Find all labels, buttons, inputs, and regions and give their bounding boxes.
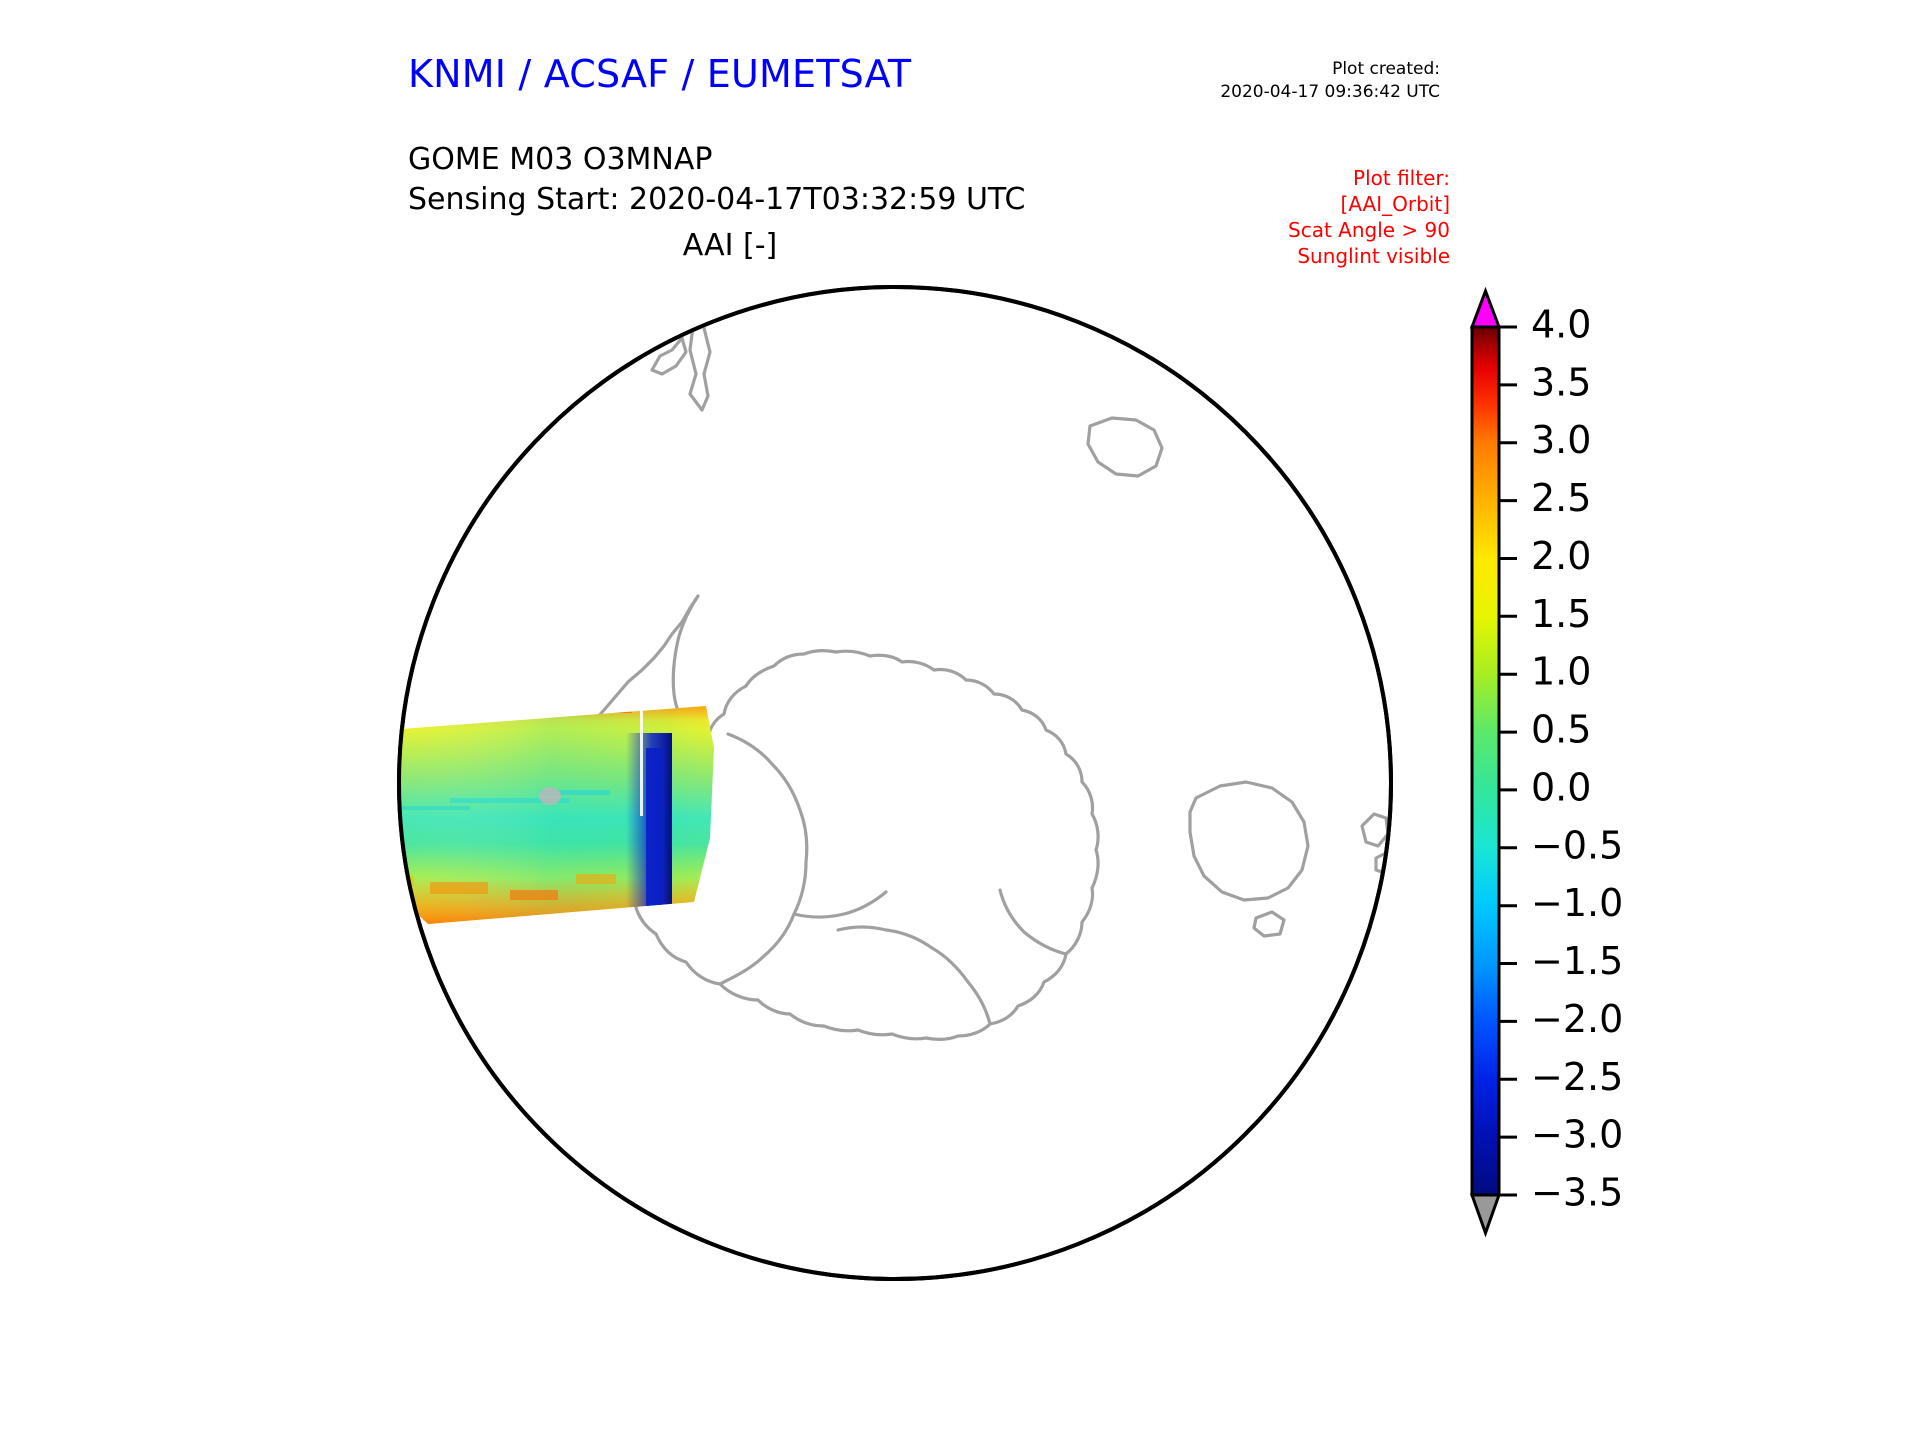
plot-filter-block: Plot filter: [AAI_Orbit] Scat Angle > 90… bbox=[1140, 165, 1450, 269]
organisation-title: KNMI / ACSAF / EUMETSAT bbox=[408, 52, 911, 96]
tick-label: 3.0 bbox=[1531, 418, 1591, 462]
tick-label: 3.5 bbox=[1531, 360, 1591, 404]
colorbar-gradient bbox=[1472, 327, 1499, 1195]
colorbar-tick-labels: 4.0 3.5 3.0 2.5 2.0 1.5 1.0 0.5 0.0 −0.5… bbox=[1531, 303, 1623, 1215]
tick-label: 1.0 bbox=[1531, 650, 1591, 694]
tick-label: −3.5 bbox=[1531, 1171, 1623, 1215]
tick-label: −1.0 bbox=[1531, 881, 1623, 925]
tick-label: −2.5 bbox=[1531, 1055, 1623, 1099]
tick-label: −1.5 bbox=[1531, 939, 1623, 983]
colorbar-ticks bbox=[1499, 327, 1517, 1195]
tick-label: 2.0 bbox=[1531, 534, 1591, 578]
plot-filter-scat-angle: Scat Angle > 90 bbox=[1140, 217, 1450, 243]
colorbar-over-arrow bbox=[1472, 291, 1499, 327]
tick-label: 2.5 bbox=[1531, 476, 1591, 520]
polar-map bbox=[390, 278, 1400, 1288]
tick-label: −3.0 bbox=[1531, 1113, 1623, 1157]
tick-label: 0.5 bbox=[1531, 708, 1591, 752]
tick-label: −0.5 bbox=[1531, 823, 1623, 867]
colorbar-under-arrow bbox=[1472, 1195, 1499, 1233]
instrument-product-line: GOME M03 O3MNAP bbox=[408, 140, 1025, 180]
plot-created-timestamp: 2020-04-17 09:36:42 UTC bbox=[1110, 81, 1440, 104]
plot-filter-name: [AAI_Orbit] bbox=[1140, 191, 1450, 217]
tick-label: 4.0 bbox=[1531, 303, 1591, 347]
colorbar: 4.0 3.5 3.0 2.5 2.0 1.5 1.0 0.5 0.0 −0.5… bbox=[1437, 283, 1857, 1293]
plot-filter-label: Plot filter: bbox=[1140, 165, 1450, 191]
plot-created-block: Plot created: 2020-04-17 09:36:42 UTC bbox=[1110, 58, 1440, 104]
sensing-start-line: Sensing Start: 2020-04-17T03:32:59 UTC bbox=[408, 180, 1025, 220]
colorbar-svg: 4.0 3.5 3.0 2.5 2.0 1.5 1.0 0.5 0.0 −0.5… bbox=[1437, 283, 1857, 1293]
map-svg bbox=[390, 278, 1400, 1288]
plot-filter-sunglint: Sunglint visible bbox=[1140, 243, 1450, 269]
tick-label: −2.0 bbox=[1531, 997, 1623, 1041]
tick-label: 0.0 bbox=[1531, 765, 1591, 809]
tick-label: 1.5 bbox=[1531, 592, 1591, 636]
plot-created-label: Plot created: bbox=[1110, 58, 1440, 81]
product-title-block: GOME M03 O3MNAP Sensing Start: 2020-04-1… bbox=[408, 140, 1025, 220]
